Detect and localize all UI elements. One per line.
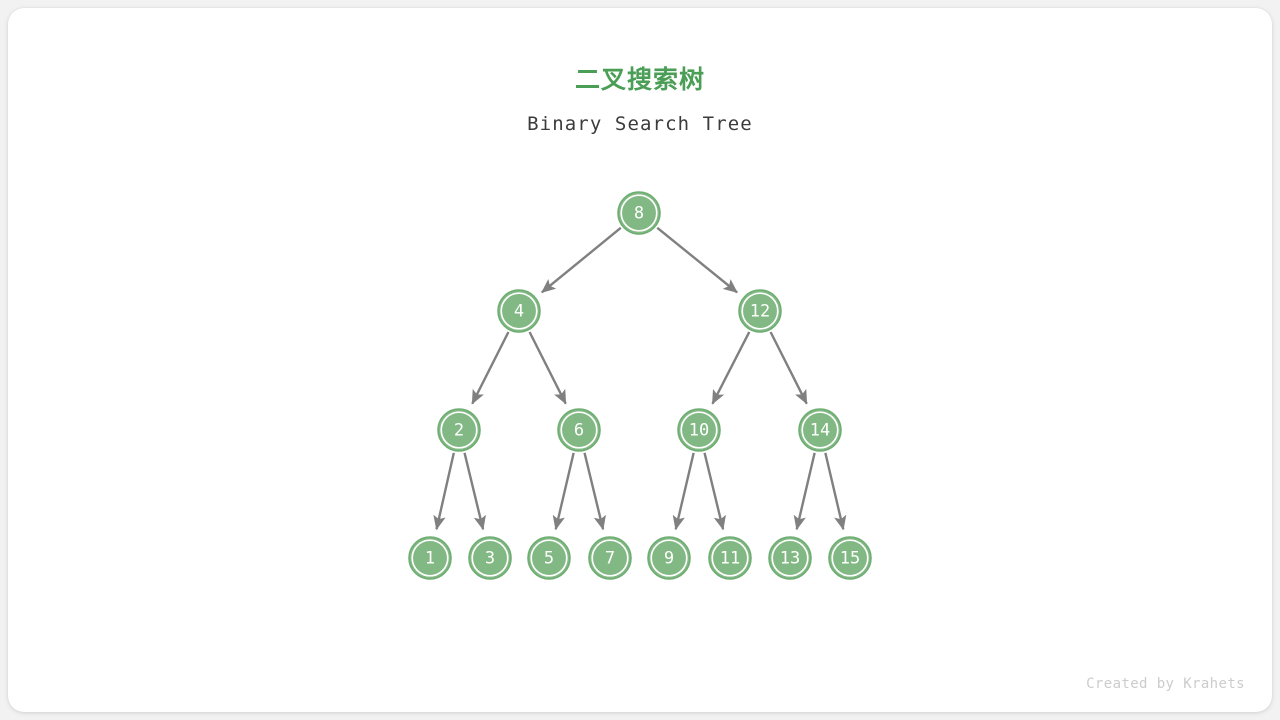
tree-edge — [771, 332, 807, 404]
binary-search-tree-diagram: 841226101413579111315 — [8, 8, 1272, 712]
node-label: 14 — [810, 421, 830, 441]
node-label: 2 — [454, 421, 464, 441]
diagram-card: 二叉搜索树 Binary Search Tree 841226101413579… — [8, 8, 1272, 712]
tree-edge — [676, 453, 694, 529]
tree-node-10[interactable]: 10 — [678, 409, 720, 451]
tree-edge — [705, 453, 724, 529]
tree-node-14[interactable]: 14 — [799, 409, 841, 451]
tree-node-6[interactable]: 6 — [558, 409, 600, 451]
tree-node-2[interactable]: 2 — [438, 409, 480, 451]
node-label: 3 — [485, 549, 495, 569]
node-label: 8 — [634, 204, 644, 224]
node-label: 12 — [750, 302, 770, 322]
tree-edges — [437, 228, 844, 530]
tree-edge — [465, 453, 484, 529]
tree-edge — [556, 453, 574, 529]
tree-edge — [542, 228, 621, 292]
node-label: 7 — [605, 549, 615, 569]
tree-node-5[interactable]: 5 — [528, 537, 570, 579]
tree-nodes: 841226101413579111315 — [409, 192, 871, 579]
tree-edge — [437, 453, 454, 529]
tree-node-8[interactable]: 8 — [618, 192, 660, 234]
node-label: 11 — [720, 549, 740, 569]
tree-node-1[interactable]: 1 — [409, 537, 451, 579]
credit-text: Created by Krahets — [1086, 676, 1245, 692]
node-label: 6 — [574, 421, 584, 441]
tree-node-9[interactable]: 9 — [648, 537, 690, 579]
node-label: 9 — [664, 549, 674, 569]
tree-node-7[interactable]: 7 — [589, 537, 631, 579]
node-label: 13 — [780, 549, 800, 569]
tree-node-15[interactable]: 15 — [829, 537, 871, 579]
tree-edge — [797, 453, 815, 529]
tree-edge — [472, 332, 508, 404]
tree-edge — [825, 453, 843, 529]
node-label: 5 — [544, 549, 554, 569]
node-label: 10 — [689, 421, 709, 441]
tree-edge — [530, 332, 566, 404]
tree-edge — [712, 332, 749, 404]
node-label: 1 — [425, 549, 435, 569]
node-label: 4 — [514, 302, 524, 322]
tree-edge — [585, 453, 604, 529]
tree-edge — [657, 228, 737, 293]
tree-node-3[interactable]: 3 — [469, 537, 511, 579]
node-label: 15 — [840, 549, 860, 569]
tree-node-12[interactable]: 12 — [739, 290, 781, 332]
tree-node-11[interactable]: 11 — [709, 537, 751, 579]
tree-node-13[interactable]: 13 — [769, 537, 811, 579]
tree-node-4[interactable]: 4 — [498, 290, 540, 332]
